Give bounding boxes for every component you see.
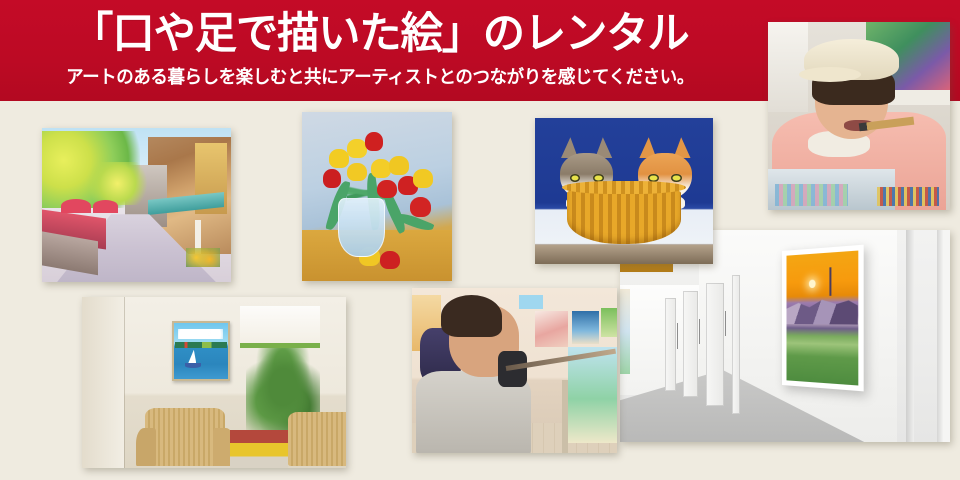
photo-waiting-room-image [82, 297, 346, 468]
painting-cats-in-basket[interactable] [535, 118, 713, 264]
painting-street-scene-image [42, 128, 231, 282]
photo-wheelchair-artist-image [412, 288, 617, 453]
art-rental-banner: 「口や足で描いた絵」のレンタル アートのある暮らしを楽しむと共にアーティストとの… [0, 0, 960, 480]
photo-wheelchair-artist[interactable] [412, 288, 617, 453]
corridor-wall-artwork [782, 245, 863, 391]
painting-tulips-image [302, 112, 452, 281]
painting-tulips[interactable] [302, 112, 452, 281]
page-subtitle: アートのある暮らしを楽しむと共にアーティストとのつながりを感じてください。 [11, 64, 748, 90]
photo-waiting-room[interactable] [82, 297, 346, 468]
photo-artist-woman-image [768, 22, 950, 210]
painting-cats-in-basket-image [535, 118, 713, 264]
photo-artist-woman[interactable] [768, 22, 950, 210]
painting-street-scene[interactable] [42, 128, 231, 282]
page-title: 「口や足で描いた絵」のレンタル [8, 8, 753, 61]
